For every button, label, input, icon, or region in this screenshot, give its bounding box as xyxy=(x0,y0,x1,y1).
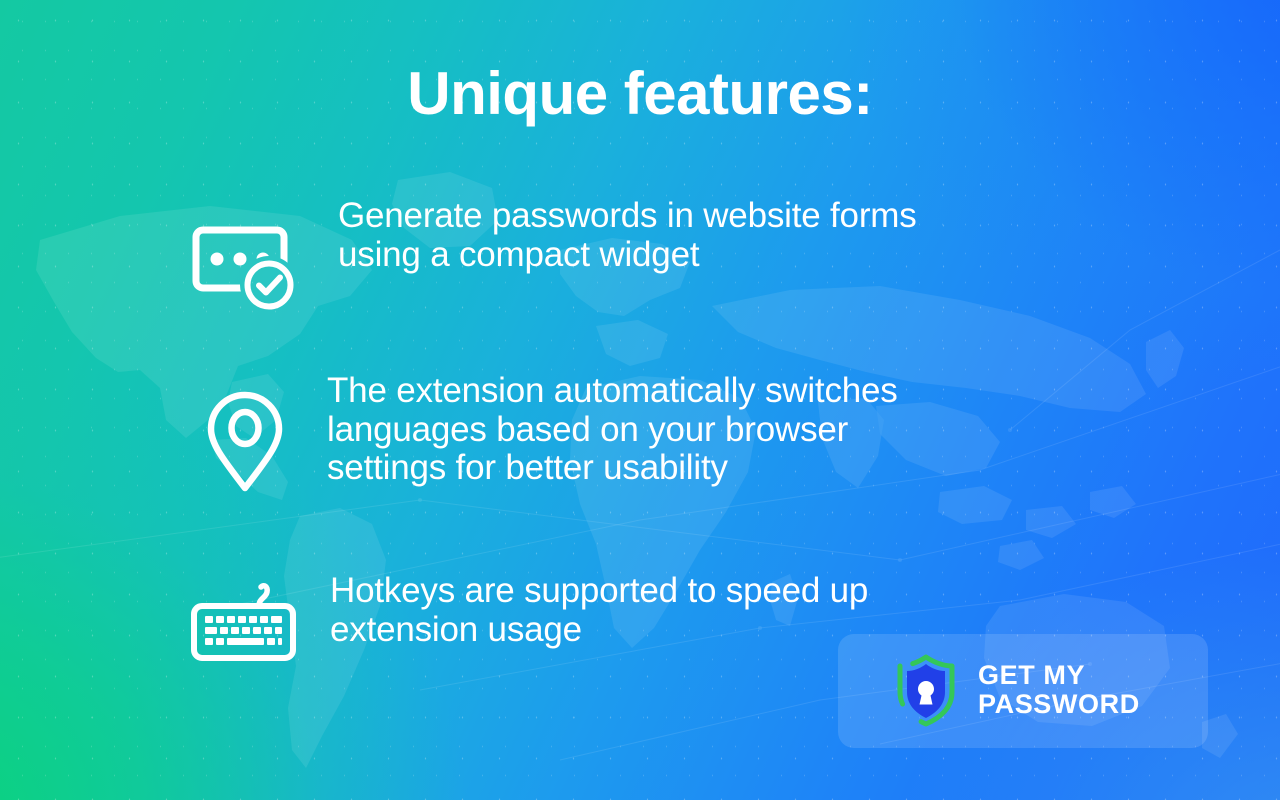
password-field-check-icon xyxy=(192,226,298,310)
brand-logo[interactable]: GET MY PASSWORD xyxy=(890,650,1140,730)
feature-text-1: Generate passwords in website forms usin… xyxy=(338,197,1098,274)
location-pin-icon xyxy=(205,391,285,492)
keyboard-icon xyxy=(190,582,297,662)
brand-wordmark: GET MY PASSWORD xyxy=(978,661,1140,719)
page-title: Unique features: xyxy=(0,62,1280,125)
shield-keyhole-icon xyxy=(890,652,962,728)
feature-text-2: The extension automatically switches lan… xyxy=(327,372,1087,488)
slide-canvas: Unique features: Generate passwords in w… xyxy=(0,0,1280,800)
